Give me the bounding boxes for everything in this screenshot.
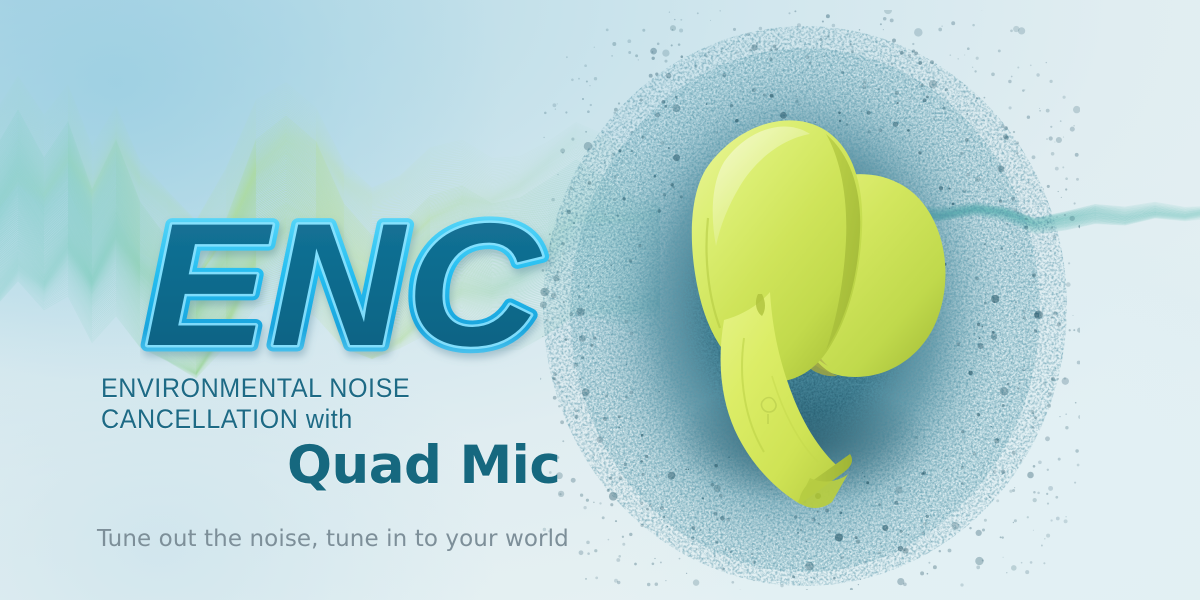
banner-copy-block: ENC ENC ENC ENVIRONMENTAL NOISE CANCELLA… xyxy=(0,0,620,600)
headline-line-2-suffix: with xyxy=(298,404,352,434)
headline-text: ENVIRONMENTAL NOISE CANCELLATION with xyxy=(101,373,538,435)
feature-label-quad-mic: Quad Mic xyxy=(287,437,560,495)
headline-line-2: CANCELLATION with xyxy=(101,404,538,435)
svg-text:ENC: ENC xyxy=(144,205,543,380)
wireless-earbud-product-image xyxy=(612,70,1012,520)
headline-line-2-main: CANCELLATION xyxy=(101,404,298,434)
headline-line-1: ENVIRONMENTAL NOISE xyxy=(101,373,538,404)
enc-letters: ENC ENC ENC xyxy=(144,205,543,380)
enc-wordmark: ENC ENC ENC xyxy=(140,205,560,380)
enc-marketing-banner: ENC ENC ENC ENVIRONMENTAL NOISE CANCELLA… xyxy=(0,0,1200,600)
tagline-text: Tune out the noise, tune in to your worl… xyxy=(97,524,569,554)
